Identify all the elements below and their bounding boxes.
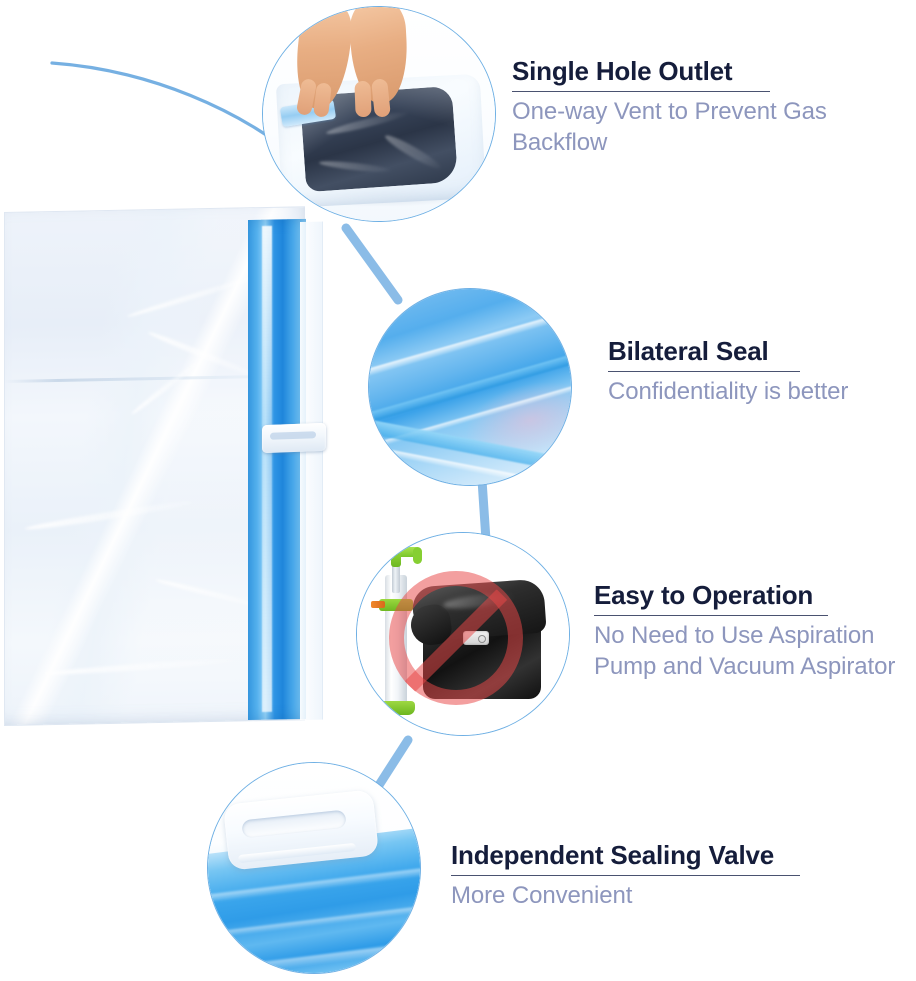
hand-pump-handle-grip: [369, 547, 378, 564]
feature-subtitle: Confidentiality is better: [608, 376, 848, 407]
finger: [354, 81, 371, 118]
callout-easy-to-operation: Easy to Operation No Need to Use Aspirat…: [594, 581, 916, 682]
title-underline: [451, 875, 800, 876]
feature-title: Single Hole Outlet: [512, 57, 916, 86]
feature-title: Independent Sealing Valve: [451, 841, 800, 870]
infographic-canvas: Single Hole Outlet One-way Vent to Preve…: [0, 0, 916, 981]
hand-pump-base: [377, 701, 415, 715]
callout-bilateral-seal: Bilateral Seal Confidentiality is better: [608, 337, 848, 407]
callout-single-hole-outlet: Single Hole Outlet One-way Vent to Preve…: [512, 57, 916, 158]
hand-pump-handle-grip: [413, 547, 422, 564]
feature-subtitle: More Convenient: [451, 880, 800, 911]
bag-edge-flap: [300, 222, 323, 720]
feature-image-easy-to-operation: [356, 532, 570, 736]
feature-subtitle: One-way Vent to Prevent Gas Backflow: [512, 96, 916, 158]
hand-pump-collar-tab: [371, 601, 385, 608]
bag-zipper-strip: [248, 219, 306, 720]
connector-feature-2-to-feature-3: [482, 480, 486, 540]
feature-image-bilateral-seal: [368, 288, 572, 486]
feature-title: Easy to Operation: [594, 581, 916, 610]
feature-title: Bilateral Seal: [608, 337, 848, 366]
feature-subtitle: No Need to Use Aspiration Pump and Vacuu…: [594, 620, 916, 682]
feature-image-single-hole-outlet: [262, 6, 496, 222]
bag-zipper-highlight: [262, 226, 272, 712]
feature-image-independent-sealing-valve: [207, 762, 421, 974]
callout-independent-sealing-valve: Independent Sealing Valve More Convenien…: [451, 841, 800, 911]
title-underline: [512, 91, 770, 92]
hand-pump-handle-stem: [391, 553, 401, 567]
product-bag: [4, 212, 334, 724]
title-underline: [594, 615, 828, 616]
title-underline: [608, 371, 800, 372]
